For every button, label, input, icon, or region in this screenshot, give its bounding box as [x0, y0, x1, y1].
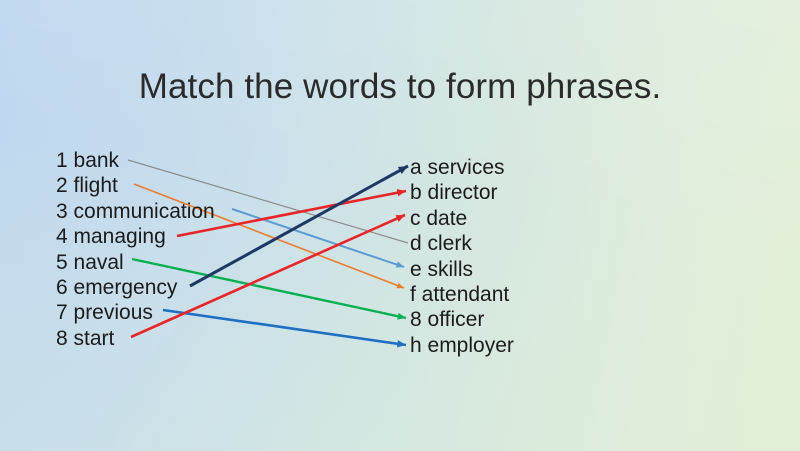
left-word-7[interactable]: 7 previous: [56, 300, 215, 325]
left-word-5[interactable]: 5 naval: [56, 250, 215, 275]
right-word-a[interactable]: a services: [410, 155, 514, 180]
right-word-c[interactable]: c date: [410, 206, 514, 231]
connector-flight-to-attendant-arrowhead-icon: [397, 283, 404, 288]
page-title: Match the words to form phrases.: [0, 67, 800, 107]
right-word-d[interactable]: d clerk: [410, 231, 514, 256]
left-word-6[interactable]: 6 emergency: [56, 275, 215, 300]
right-word-column: a services b director c date d clerk e s…: [410, 155, 514, 358]
right-word-e[interactable]: e skills: [410, 257, 514, 282]
left-word-8[interactable]: 8 start: [56, 326, 215, 351]
left-word-3[interactable]: 3 communication: [56, 199, 215, 224]
connector-communication-to-skills-arrowhead-icon: [396, 262, 404, 268]
connector-communication-to-skills-line: [232, 209, 404, 267]
right-word-h[interactable]: h employer: [410, 333, 514, 358]
connector-communication-to-skills: [232, 209, 404, 268]
left-word-column: 1 bank 2 flight 3 communication 4 managi…: [56, 148, 215, 351]
right-word-f[interactable]: f attendant: [410, 282, 514, 307]
left-word-1[interactable]: 1 bank: [56, 148, 215, 173]
left-word-2[interactable]: 2 flight: [56, 173, 215, 198]
slide-canvas: Match the words to form phrases. 1 bank …: [0, 0, 800, 451]
right-word-g[interactable]: 8 officer: [410, 307, 514, 332]
left-word-4[interactable]: 4 managing: [56, 224, 215, 249]
right-word-b[interactable]: b director: [410, 180, 514, 205]
